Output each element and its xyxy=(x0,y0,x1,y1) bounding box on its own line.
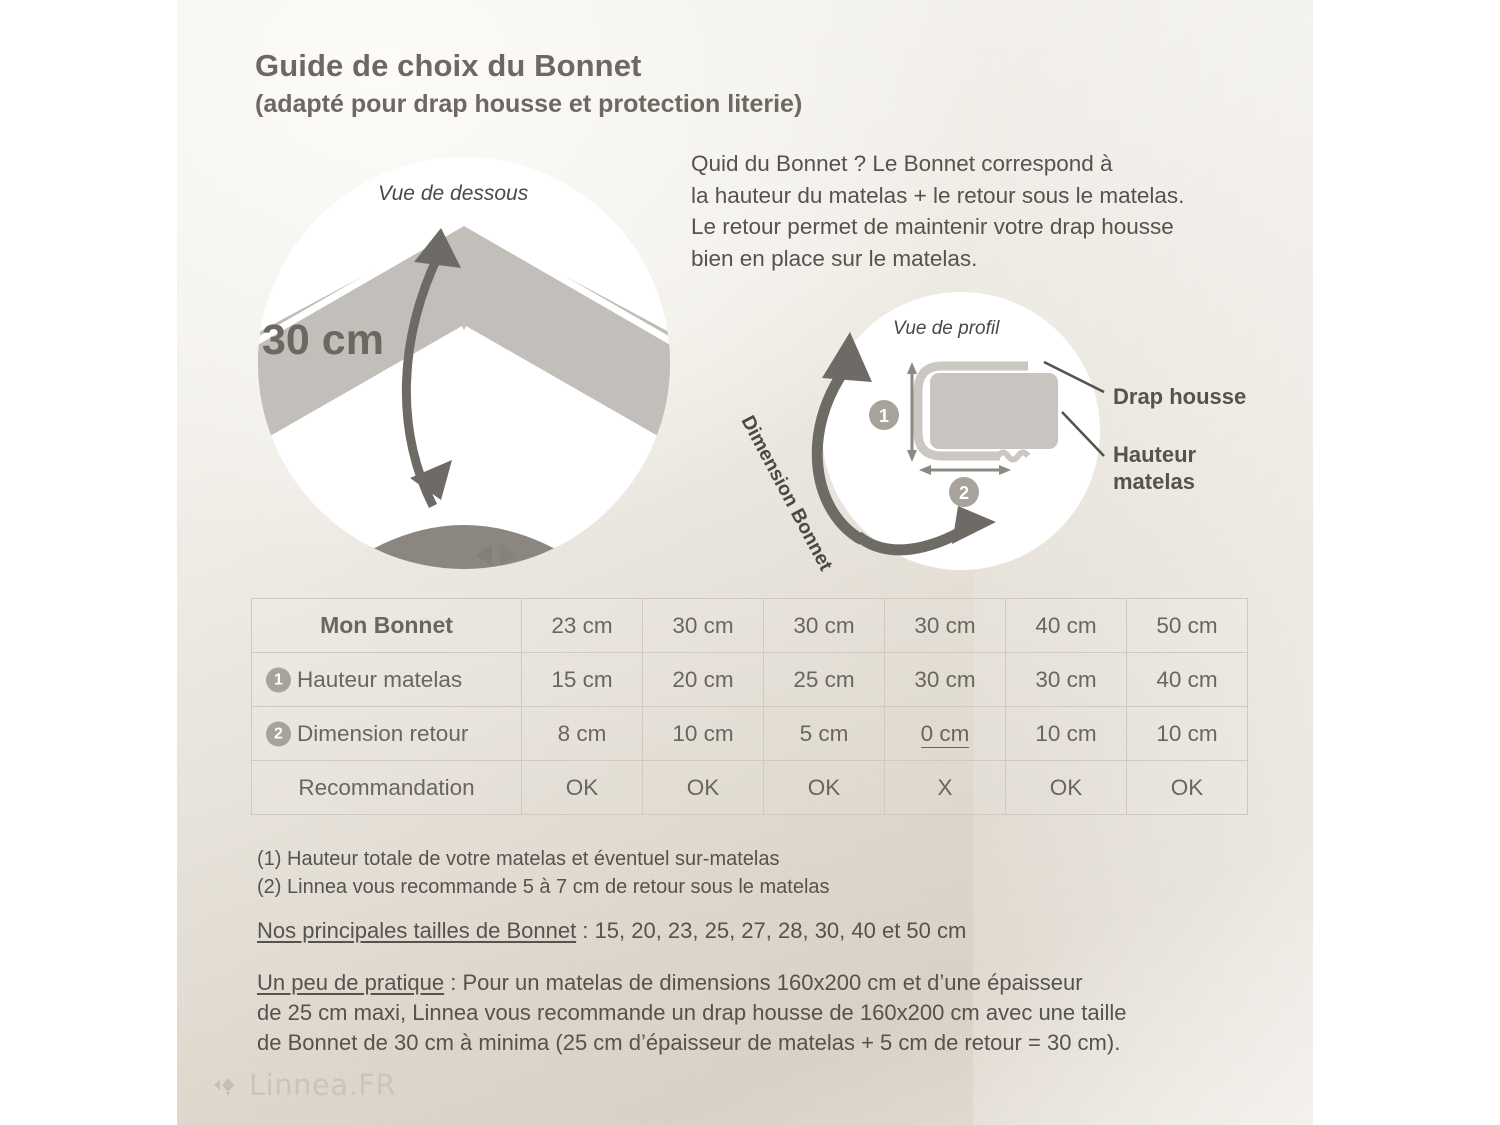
dimension-bonnet-arrowhead-right xyxy=(952,506,996,544)
practice-label: Un peu de pratique xyxy=(257,970,444,995)
cell-hauteur-3: 30 cm xyxy=(885,653,1006,707)
label-drap-housse: Drap housse xyxy=(1113,383,1246,410)
profile-view-caption: Vue de profil xyxy=(893,318,999,340)
practice-line-1-rest: : Pour un matelas de dimensions 160x200 … xyxy=(444,970,1082,995)
sizes-line: Nos principales tailles de Bonnet : 15, … xyxy=(257,918,966,944)
label-hauteur-matelas: Hauteur matelas xyxy=(1113,441,1196,495)
diamond-leaf-icon xyxy=(210,1071,238,1099)
table-header-mon-bonnet: Mon Bonnet xyxy=(252,599,522,653)
rowhead-text-retour: Dimension retour xyxy=(297,721,468,747)
cell-reco-1: OK xyxy=(643,761,764,815)
cell-hauteur-0: 15 cm xyxy=(522,653,643,707)
badge-2: 2 xyxy=(266,721,291,746)
table-row-dimension-retour: 2 Dimension retour 8 cm 10 cm 5 cm 0 cm … xyxy=(252,707,1248,761)
footnote-1: (1) Hauteur totale de votre matelas et é… xyxy=(257,848,779,871)
cell-retour-5: 10 cm xyxy=(1127,707,1248,761)
table-rowhead-hauteur-matelas: 1 Hauteur matelas xyxy=(252,653,522,707)
profile-view-illustration: 1 2 xyxy=(0,0,1500,1125)
bonnet-table: Mon Bonnet 23 cm 30 cm 30 cm 30 cm 40 cm… xyxy=(251,598,1248,815)
cell-hauteur-5: 40 cm xyxy=(1127,653,1248,707)
table-header-col-2: 30 cm xyxy=(764,599,885,653)
marker-2-label: 2 xyxy=(959,483,969,503)
cell-retour-0: 8 cm xyxy=(522,707,643,761)
dimension-bonnet-curve-bottom xyxy=(858,528,968,550)
cell-reco-4: OK xyxy=(1006,761,1127,815)
mattress-block xyxy=(930,373,1058,449)
practice-line-1: Un peu de pratique : Pour un matelas de … xyxy=(257,968,1127,998)
sizes-values: : 15, 20, 23, 25, 27, 28, 30, 40 et 50 c… xyxy=(576,918,966,943)
table-header-col-5: 50 cm xyxy=(1127,599,1248,653)
cell-hauteur-1: 20 cm xyxy=(643,653,764,707)
table-header-row: Mon Bonnet 23 cm 30 cm 30 cm 30 cm 40 cm… xyxy=(252,599,1248,653)
dimension-bonnet-arrowhead-up xyxy=(822,332,872,382)
table-rowhead-dimension-retour: 2 Dimension retour xyxy=(252,707,522,761)
marker-1-label: 1 xyxy=(879,406,889,426)
footnote-2: (2) Linnea vous recommande 5 à 7 cm de r… xyxy=(257,876,830,899)
elastic-gather-icon xyxy=(998,453,1028,460)
cell-hauteur-2: 25 cm xyxy=(764,653,885,707)
table-row-recommandation: Recommandation OK OK OK X OK OK xyxy=(252,761,1248,815)
cell-hauteur-4: 30 cm xyxy=(1006,653,1127,707)
cell-reco-5: OK xyxy=(1127,761,1248,815)
practice-line-3: de Bonnet de 30 cm à minima (25 cm d’épa… xyxy=(257,1028,1127,1058)
measure-v-arrow-bottom xyxy=(907,450,917,462)
linnea-logo[interactable]: Linnea.FR xyxy=(210,1068,396,1102)
cell-reco-3: X xyxy=(885,761,1006,815)
cell-retour-3: 0 cm xyxy=(885,707,1006,761)
infographic-canvas: Guide de choix du Bonnet (adapté pour dr… xyxy=(0,0,1500,1125)
measure-h-arrow-right xyxy=(999,465,1011,475)
label-hauteur-line-2: matelas xyxy=(1113,468,1196,495)
cell-retour-1: 10 cm xyxy=(643,707,764,761)
practice-line-2: de 25 cm maxi, Linnea vous recommande un… xyxy=(257,998,1127,1028)
leader-line-mattress xyxy=(1062,412,1104,456)
table-header-col-4: 40 cm xyxy=(1006,599,1127,653)
label-hauteur-line-1: Hauteur xyxy=(1113,441,1196,468)
badge-1: 1 xyxy=(266,667,291,692)
measure-v-arrow-top xyxy=(907,362,917,374)
table-row-hauteur-matelas: 1 Hauteur matelas 15 cm 20 cm 25 cm 30 c… xyxy=(252,653,1248,707)
dimension-bonnet-curve-left xyxy=(817,368,862,540)
cell-retour-4: 10 cm xyxy=(1006,707,1127,761)
sizes-label: Nos principales tailles de Bonnet xyxy=(257,918,576,943)
table-header-col-1: 30 cm xyxy=(643,599,764,653)
table-header-col-0: 23 cm xyxy=(522,599,643,653)
bonnet-table-wrap: Mon Bonnet 23 cm 30 cm 30 cm 30 cm 40 cm… xyxy=(251,598,1248,814)
table-header-col-3: 30 cm xyxy=(885,599,1006,653)
cell-retour-3-value: 0 cm xyxy=(921,721,970,748)
rowhead-text-recommandation: Recommandation xyxy=(252,775,521,801)
measure-h-arrow-left xyxy=(919,465,931,475)
cell-reco-0: OK xyxy=(522,761,643,815)
cell-retour-2: 5 cm xyxy=(764,707,885,761)
practice-paragraph: Un peu de pratique : Pour un matelas de … xyxy=(257,968,1127,1058)
cell-reco-2: OK xyxy=(764,761,885,815)
linnea-wordmark: Linnea.FR xyxy=(249,1068,396,1102)
rowhead-text-hauteur: Hauteur matelas xyxy=(297,667,462,693)
table-rowhead-recommandation: Recommandation xyxy=(252,761,522,815)
